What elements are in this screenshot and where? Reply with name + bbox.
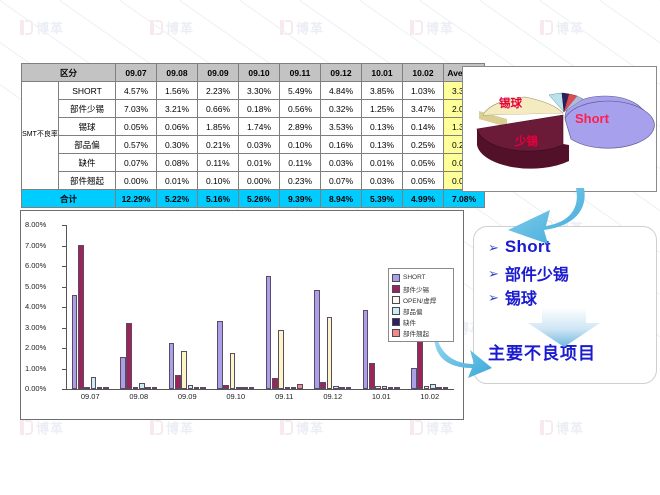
bar (249, 387, 255, 389)
bar (194, 387, 200, 389)
table-cell: 0.14% (403, 118, 444, 136)
watermark-logo: 博革 (410, 18, 454, 37)
legend-label: 缺件 (403, 317, 416, 327)
x-axis-tick-label: 10.02 (406, 392, 455, 401)
col-header-kubun: 区分 (22, 64, 116, 82)
watermark-text: 博革 (166, 418, 194, 437)
table-cell: 0.01% (362, 154, 403, 172)
legend-item: 缺件 (392, 316, 451, 327)
defect-rate-table: 区分 09.07 09.08 09.09 09.10 09.11 09.12 1… (21, 63, 485, 208)
watermark-hatch (0, 0, 405, 1)
watermark-logo: 博革 (540, 418, 584, 437)
col-header-0912: 09.12 (321, 64, 362, 82)
watermark-hatch (420, 0, 660, 1)
bo-ge-logo-icon (540, 20, 553, 35)
bar (339, 387, 345, 389)
col-header-0909: 09.09 (198, 64, 239, 82)
y-axis-tick-label: 6.00% (25, 261, 46, 270)
total-cell: 5.22% (157, 190, 198, 208)
bar (97, 387, 103, 389)
x-axis-tick-label: 09.09 (163, 392, 212, 401)
table-cell: 1.85% (198, 118, 239, 136)
bar (78, 245, 84, 389)
table-header-row: 区分 09.07 09.08 09.09 09.10 09.11 09.12 1… (22, 64, 485, 82)
col-header-0908: 09.08 (157, 64, 198, 82)
bo-ge-logo-icon (150, 20, 163, 35)
table-cell: 0.03% (239, 136, 280, 154)
callout-bullet-2-label: 部件少锡 (505, 261, 569, 285)
y-axis-tick-label: 4.00% (25, 302, 46, 311)
callout-bullet-2: ➢ 部件少锡 (488, 261, 569, 285)
chevron-right-icon: ➢ (488, 291, 499, 304)
table-cell: 0.32% (321, 100, 362, 118)
table-cell: 0.05% (403, 154, 444, 172)
table-cell: 0.01% (157, 172, 198, 190)
table-cell: 0.10% (280, 136, 321, 154)
bar (188, 385, 194, 389)
bar (103, 387, 109, 389)
legend-item: SHORT (392, 272, 451, 283)
table-cell: 0.57% (116, 136, 157, 154)
table-cell: 3.30% (239, 82, 280, 100)
bar-group (169, 225, 206, 389)
legend-label: 部件少锡 (403, 284, 429, 294)
table-cell: 0.07% (321, 172, 362, 190)
bo-ge-logo-icon (410, 20, 423, 35)
y-axis-tick (62, 369, 66, 370)
table-total-row: 合计12.29%5.22%5.16%5.26%9.39%8.94%5.39%4.… (22, 190, 485, 208)
table-cell: 0.13% (362, 118, 403, 136)
bar (169, 343, 175, 389)
bar (443, 387, 449, 389)
bar (139, 383, 145, 389)
bo-ge-logo-icon (280, 20, 293, 35)
table-row: SMT不良率SHORT4.57%1.56%2.23%3.30%5.49%4.84… (22, 82, 485, 100)
watermark-hatch (120, 0, 645, 1)
watermark-logo: 博革 (540, 18, 584, 37)
arrow-pie-to-callout (500, 186, 590, 246)
bar (297, 384, 303, 389)
row-label: 缺件 (59, 154, 116, 172)
bo-ge-logo-icon (410, 420, 423, 435)
watermark-text: 博革 (36, 418, 64, 437)
table-cell: 1.74% (239, 118, 280, 136)
y-axis-tick-label: 1.00% (25, 364, 46, 373)
bar (120, 357, 126, 389)
table-cell: 4.84% (321, 82, 362, 100)
table-cell: 0.11% (280, 154, 321, 172)
row-label: 部件翘起 (59, 172, 116, 190)
bar-group (217, 225, 254, 389)
table-cell: 0.05% (116, 118, 157, 136)
y-axis-tick (62, 266, 66, 267)
watermark-text: 博革 (36, 18, 64, 37)
bar (181, 351, 187, 389)
x-axis-tick-label: 10.01 (357, 392, 406, 401)
bo-ge-logo-icon (20, 420, 33, 435)
watermark-hatch (240, 0, 660, 1)
table-cell: 0.23% (280, 172, 321, 190)
x-axis-tick-label: 09.12 (309, 392, 358, 401)
table-cell: 1.03% (403, 82, 444, 100)
watermark-hatch (540, 0, 660, 1)
smt-defect-table: 区分 09.07 09.08 09.09 09.10 09.11 09.12 1… (21, 63, 485, 208)
watermark-hatch (480, 0, 660, 1)
watermark-text: 博革 (556, 18, 584, 37)
table-cell: 3.21% (157, 100, 198, 118)
bar (236, 387, 242, 389)
table-cell: 3.85% (362, 82, 403, 100)
y-axis-tick-label: 8.00% (25, 220, 46, 229)
legend-swatch (392, 329, 400, 337)
table-cell: 7.03% (116, 100, 157, 118)
pie-label-short: Short (575, 111, 609, 126)
watermark-hatch (0, 0, 465, 1)
watermark-logo: 博革 (150, 18, 194, 37)
x-axis-line (66, 389, 454, 390)
col-header-0910: 09.10 (239, 64, 280, 82)
watermark-logo: 博革 (20, 18, 64, 37)
chevron-right-icon: ➢ (488, 241, 499, 254)
table-cell: 4.57% (116, 82, 157, 100)
bar (382, 386, 388, 389)
bar (223, 385, 229, 389)
y-axis-tick (62, 307, 66, 308)
bar (175, 375, 181, 389)
table-row: 部件少锡7.03%3.21%0.66%0.18%0.56%0.32%1.25%3… (22, 100, 485, 118)
watermark-logo: 博革 (20, 418, 64, 437)
table-cell: 0.00% (239, 172, 280, 190)
watermark-logo: 博革 (150, 418, 194, 437)
y-axis-tick (62, 389, 66, 390)
table-cell: 0.30% (157, 136, 198, 154)
bar (333, 386, 339, 389)
legend-swatch (392, 274, 400, 282)
bo-ge-logo-icon (280, 420, 293, 435)
table-cell: 1.25% (362, 100, 403, 118)
bar-group (120, 225, 157, 389)
table-cell: 0.11% (198, 154, 239, 172)
bar (200, 387, 206, 389)
legend-item: 部件翘起 (392, 327, 451, 338)
bar (314, 290, 320, 389)
table-cell: 3.53% (321, 118, 362, 136)
table-cell: 0.66% (198, 100, 239, 118)
table-cell: 0.06% (157, 118, 198, 136)
y-axis-tick-label: 2.00% (25, 343, 46, 352)
table-row: 部品偏0.57%0.30%0.21%0.03%0.10%0.16%0.13%0.… (22, 136, 485, 154)
pie-chart-panel: Short 少锡 锡球 (462, 66, 657, 192)
legend-swatch (392, 285, 400, 293)
y-axis-tick (62, 348, 66, 349)
table-cell: 1.56% (157, 82, 198, 100)
table-cell: 0.08% (157, 154, 198, 172)
watermark-hatch (0, 0, 525, 1)
main-defect-callout: ➢ Short ➢ 部件少锡 ➢ 锡球 主要不良项目 (473, 226, 657, 384)
bar-group (266, 225, 303, 389)
row-label: SHORT (59, 82, 116, 100)
legend-item: 部品偏 (392, 305, 451, 316)
table-cell: 2.23% (198, 82, 239, 100)
bar (424, 386, 430, 389)
table-cell: 0.00% (116, 172, 157, 190)
table-row: 缺件0.07%0.08%0.11%0.01%0.11%0.03%0.01%0.0… (22, 154, 485, 172)
legend-swatch (392, 318, 400, 326)
col-header-1001: 10.01 (362, 64, 403, 82)
watermark-logo: 博革 (410, 418, 454, 437)
legend-swatch (392, 307, 400, 315)
bar (375, 386, 381, 389)
bar (291, 387, 297, 389)
watermark-text: 博革 (426, 18, 454, 37)
col-header-1002: 10.02 (403, 64, 444, 82)
x-axis-tick-label: 09.11 (260, 392, 309, 401)
table-cell: 0.05% (403, 172, 444, 190)
table-cell: 0.03% (321, 154, 362, 172)
bar-group (314, 225, 351, 389)
table-head: 区分 09.07 09.08 09.09 09.10 09.11 09.12 1… (22, 64, 485, 82)
col-header-0911: 09.11 (280, 64, 321, 82)
watermark-logo: 博革 (280, 18, 324, 37)
row-label: 部品偏 (59, 136, 116, 154)
y-axis-tick (62, 287, 66, 288)
table-cell: 0.07% (116, 154, 157, 172)
watermark-hatch (180, 0, 660, 1)
col-header-0907: 09.07 (116, 64, 157, 82)
legend-label: SHORT (403, 274, 426, 281)
bar (72, 295, 78, 389)
bar (327, 317, 333, 389)
y-axis-tick-label: 0.00% (25, 384, 46, 393)
row-label: 部件少锡 (59, 100, 116, 118)
total-cell: 9.39% (280, 190, 321, 208)
bar (217, 321, 223, 389)
watermark-hatch (360, 0, 660, 1)
bar (145, 387, 151, 389)
table-cell: 0.13% (362, 136, 403, 154)
y-axis-line (66, 225, 67, 389)
table-cell: 3.47% (403, 100, 444, 118)
table-row: 锡球0.05%0.06%1.85%1.74%2.89%3.53%0.13%0.1… (22, 118, 485, 136)
bo-ge-logo-icon (20, 20, 33, 35)
row-label: 锡球 (59, 118, 116, 136)
y-axis-tick (62, 246, 66, 247)
bar (133, 387, 139, 389)
legend-item: OPEN/虚焊 (392, 294, 451, 305)
bar (272, 378, 278, 389)
table-cell: 0.56% (280, 100, 321, 118)
total-cell: 5.26% (239, 190, 280, 208)
watermark-hatch (300, 0, 660, 1)
total-cell-average: 7.08% (444, 190, 485, 208)
y-axis-tick-label: 3.00% (25, 323, 46, 332)
bar (152, 387, 158, 389)
legend-item: 部件少锡 (392, 283, 451, 294)
bar (388, 387, 394, 389)
table-cell: 0.03% (362, 172, 403, 190)
table-cell: 0.25% (403, 136, 444, 154)
total-label: 合计 (22, 190, 116, 208)
y-axis-tick-label: 5.00% (25, 282, 46, 291)
bar (369, 363, 375, 389)
bar-chart-legend: SHORT部件少锡OPEN/虚焊部品偏缺件部件翘起 (388, 268, 454, 342)
bar (242, 387, 248, 389)
total-cell: 12.29% (116, 190, 157, 208)
bar (278, 330, 284, 389)
watermark-text: 博革 (166, 18, 194, 37)
table-cell: 2.89% (280, 118, 321, 136)
watermark-logo: 博革 (280, 418, 324, 437)
x-axis-tick-label: 09.07 (66, 392, 115, 401)
bar (430, 384, 436, 389)
total-cell: 5.16% (198, 190, 239, 208)
x-axis-tick-label: 09.08 (115, 392, 164, 401)
chevron-right-icon: ➢ (488, 267, 499, 280)
bar (411, 368, 417, 389)
legend-label: 部品偏 (403, 306, 423, 316)
table-cell: 0.18% (239, 100, 280, 118)
legend-label: OPEN/虚焊 (403, 295, 436, 305)
legend-label: 部件翘起 (403, 328, 429, 338)
bar (91, 377, 97, 389)
y-axis-tick-label: 7.00% (25, 241, 46, 250)
x-axis-tick-label: 09.10 (212, 392, 261, 401)
bar (266, 276, 272, 389)
table-row: 部件翘起0.00%0.01%0.10%0.00%0.23%0.07%0.03%0… (22, 172, 485, 190)
callout-bullet-3: ➢ 锡球 (488, 285, 537, 309)
legend-swatch (392, 296, 400, 304)
table-cell: 5.49% (280, 82, 321, 100)
row-group-label: SMT不良率 (22, 82, 59, 190)
bar (436, 387, 442, 389)
table-cell: 0.21% (198, 136, 239, 154)
table-cell: 0.10% (198, 172, 239, 190)
bo-ge-logo-icon (150, 420, 163, 435)
bar (320, 382, 326, 389)
bar (363, 310, 369, 389)
total-cell: 4.99% (403, 190, 444, 208)
bar (285, 387, 291, 389)
watermark-hatch (600, 0, 660, 1)
table-cell: 0.01% (239, 154, 280, 172)
total-cell: 5.39% (362, 190, 403, 208)
watermark-text: 博革 (296, 418, 324, 437)
y-axis-tick (62, 328, 66, 329)
table-body: SMT不良率SHORT4.57%1.56%2.23%3.30%5.49%4.84… (22, 82, 485, 208)
bar (84, 387, 90, 389)
bar (346, 387, 352, 389)
bar (230, 353, 236, 389)
watermark-hatch (60, 0, 585, 1)
y-axis-tick (62, 225, 66, 226)
down-arrow-icon (526, 307, 602, 347)
watermark-text: 博革 (556, 418, 584, 437)
bo-ge-logo-icon (540, 420, 553, 435)
pie-label-xiqiu: 锡球 (499, 95, 522, 111)
watermark-text: 博革 (426, 418, 454, 437)
watermark-text: 博革 (296, 18, 324, 37)
bar (126, 323, 132, 389)
total-cell: 8.94% (321, 190, 362, 208)
bar-group (72, 225, 109, 389)
table-cell: 0.16% (321, 136, 362, 154)
pie-label-shaoxi: 少锡 (515, 133, 538, 149)
bar (394, 387, 400, 389)
callout-bullet-3-label: 锡球 (505, 285, 537, 309)
pie-chart-3d (463, 67, 656, 191)
